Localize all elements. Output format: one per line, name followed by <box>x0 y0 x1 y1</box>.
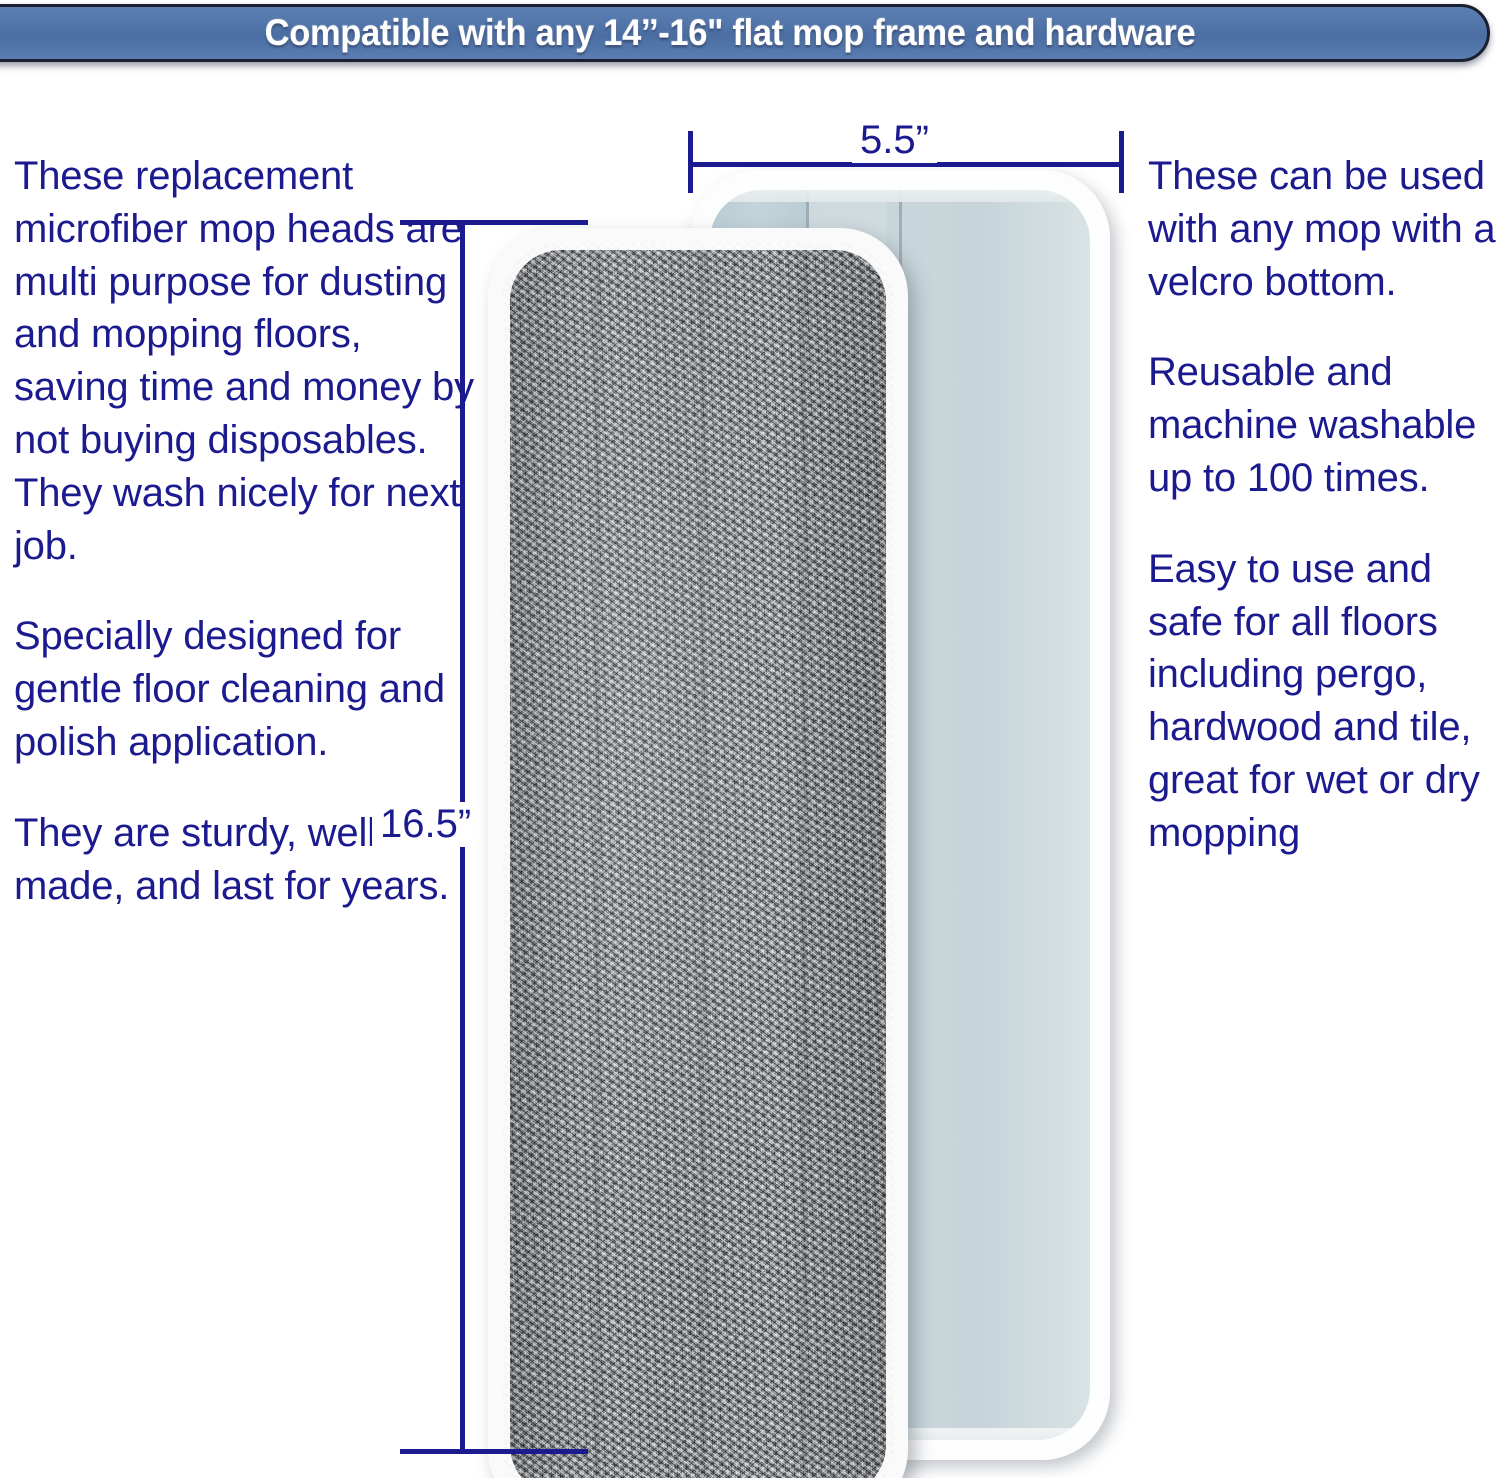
headline-banner-text: Compatible with any 14’’-16" flat mop fr… <box>26 7 1434 59</box>
feature-paragraph: Specially designed for gentle floor clea… <box>14 610 476 768</box>
hem-edge-top <box>699 180 1101 202</box>
surface-shading <box>503 243 893 1478</box>
mop-pad-front <box>488 228 908 1478</box>
left-feature-column: These replacement microfiber mop heads a… <box>14 150 476 912</box>
right-feature-column: These can be used with any mop with a ve… <box>1148 150 1500 860</box>
width-dimension-label: 5.5” <box>852 118 937 163</box>
feature-paragraph: These can be used with any mop with a ve… <box>1148 150 1500 308</box>
feature-paragraph: Easy to use and safe for all floors incl… <box>1148 543 1500 860</box>
width-dimension-tick-left <box>688 131 693 193</box>
headline-banner: Compatible with any 14’’-16" flat mop fr… <box>0 4 1490 62</box>
feature-paragraph: These replacement microfiber mop heads a… <box>14 150 476 572</box>
mop-pad-front-surface <box>503 243 893 1478</box>
height-dimension-label: 16.5” <box>372 802 479 847</box>
width-dimension-tick-right <box>1119 131 1124 193</box>
infographic-page: Compatible with any 14’’-16" flat mop fr… <box>0 0 1500 1478</box>
height-dimension-tick-bottom <box>400 1449 588 1454</box>
feature-paragraph: Reusable and machine washable up to 100 … <box>1148 346 1500 504</box>
